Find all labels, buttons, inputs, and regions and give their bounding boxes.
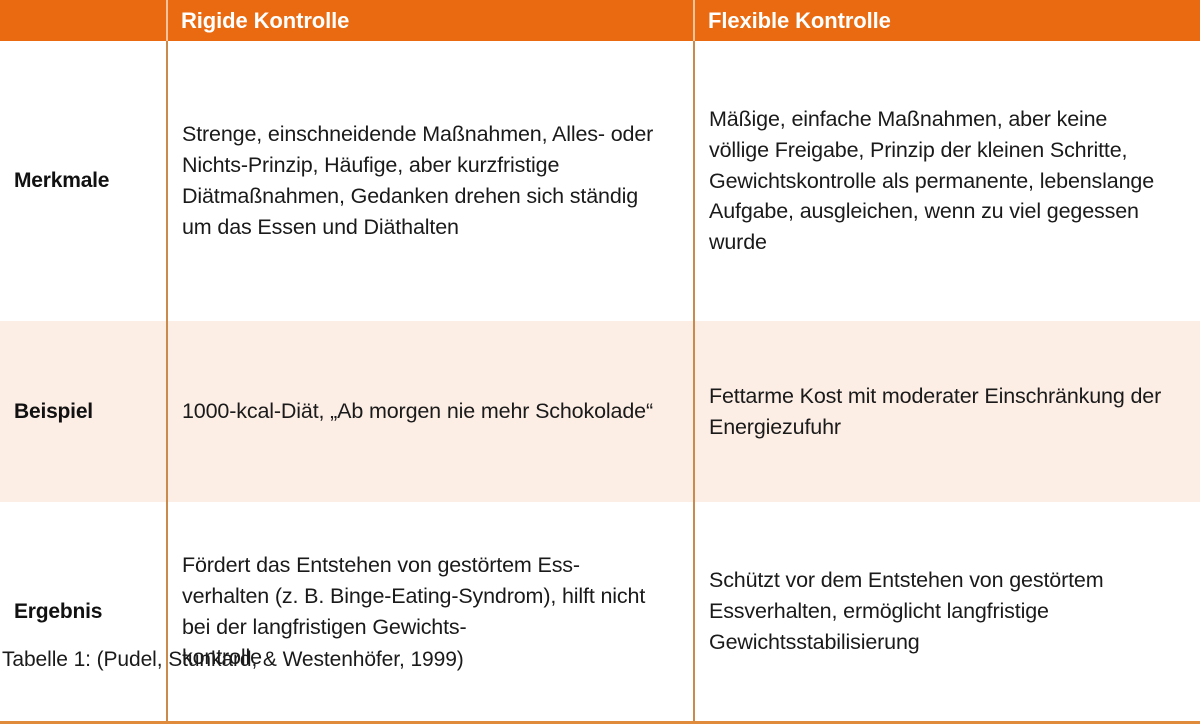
table-page: Rigide Kontrolle Flexible Kontrolle Merk…: [0, 0, 1200, 697]
table-row: Beispiel 1000-kcal-Diät, „Ab morgen nie …: [0, 321, 1200, 502]
cell-text: Strenge, einschneidende Maßnahmen, Alles…: [182, 119, 671, 243]
cell-beispiel-rigide: 1000-kcal-Diät, „Ab morgen nie mehr Scho…: [167, 321, 694, 502]
cell-ergebnis-rigide: Fördert das Entstehen von gestörtem Ess-…: [167, 502, 694, 723]
comparison-table: Rigide Kontrolle Flexible Kontrolle Merk…: [0, 0, 1200, 724]
table-header-row: Rigide Kontrolle Flexible Kontrolle: [0, 0, 1200, 41]
row-label-ergebnis: Ergebnis: [0, 502, 167, 723]
cell-text: 1000-kcal-Diät, „Ab morgen nie mehr Scho…: [182, 396, 671, 427]
cell-ergebnis-flexible: Schützt vor dem Entstehen von gestörtem …: [694, 502, 1200, 723]
table-caption: Tabelle 1: (Pudel, Stunkard, & Westenhöf…: [2, 648, 464, 672]
table-body: Merkmale Strenge, einschneidende Maßnahm…: [0, 41, 1200, 723]
cell-beispiel-flexible: Fettarme Kost mit moderater Einschränkun…: [694, 321, 1200, 502]
header-cell-rigide-kontrolle: Rigide Kontrolle: [167, 0, 694, 41]
table-row: Merkmale Strenge, einschneidende Maßnahm…: [0, 41, 1200, 321]
table-head: Rigide Kontrolle Flexible Kontrolle: [0, 0, 1200, 41]
header-cell-flexible-kontrolle: Flexible Kontrolle: [694, 0, 1200, 41]
cell-text: Schützt vor dem Entstehen von gestörtem …: [709, 565, 1170, 658]
row-label-merkmale: Merkmale: [0, 41, 167, 321]
table-row: Ergebnis Fördert das Entstehen von gestö…: [0, 502, 1200, 723]
cell-merkmale-flexible: Mäßige, einfache Maßnahmen, aber keine v…: [694, 41, 1200, 321]
row-label-beispiel: Beispiel: [0, 321, 167, 502]
cell-merkmale-rigide: Strenge, einschneidende Maßnahmen, Alles…: [167, 41, 694, 321]
header-cell-corner: [0, 0, 167, 41]
cell-text: Fettarme Kost mit moderater Einschränkun…: [709, 381, 1170, 443]
cell-text: Mäßige, einfache Maßnahmen, aber keine v…: [709, 104, 1170, 259]
